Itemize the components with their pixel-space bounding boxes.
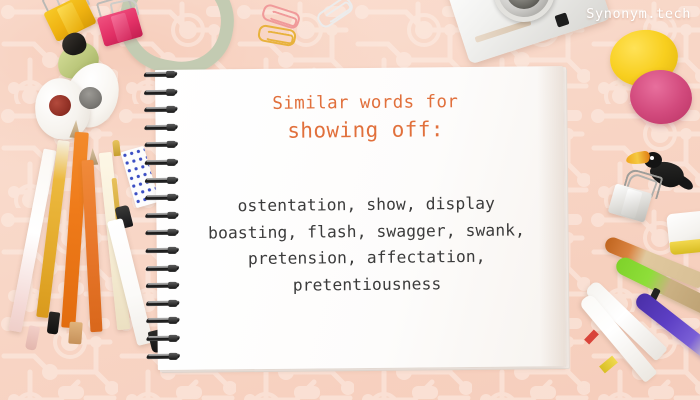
spiral-coil-highlight (146, 72, 169, 74)
spiral-coil-highlight (146, 125, 169, 127)
card-title: Similar words for showing off: (185, 89, 546, 146)
spiral-coil-cap (166, 88, 175, 95)
spiral-coil-highlight (148, 301, 171, 303)
spiral-coil-cap (166, 71, 175, 78)
spiral-coil-cap (169, 335, 178, 342)
synonym-line: pretension, affectation, (185, 243, 549, 273)
spiral-coil-cap (169, 352, 178, 359)
spiral-coil (145, 213, 178, 219)
spiral-coil (146, 248, 179, 254)
spiral-coil (146, 301, 179, 307)
spiral-coil-cap (168, 282, 177, 289)
notebook-page: Similar words for showing off: ostentati… (155, 66, 566, 370)
synonym-line: pretentiousness (185, 270, 549, 300)
spiral-coil-cap (167, 212, 176, 219)
spiral-coil (147, 336, 180, 342)
spiral-coil-cap (167, 124, 176, 131)
spiral-coil-highlight (148, 336, 171, 338)
spiral-coil (146, 283, 179, 289)
spiral-coil (145, 160, 178, 166)
brand-logo-text: Synonym.tech (586, 6, 691, 22)
spiral-coil-highlight (147, 248, 170, 250)
spiral-coil-cap (168, 317, 177, 324)
spiral-coil-cap (168, 264, 177, 271)
toucan-eye (650, 156, 654, 160)
spiral-coil-cap (168, 300, 177, 307)
spiral-coil (146, 318, 179, 324)
synonym-list: ostentation, show, display boasting, fla… (184, 190, 549, 299)
spiral-coil-highlight (148, 265, 171, 267)
spiral-coil (146, 265, 179, 271)
spiral-coil (147, 353, 180, 359)
orange-pencil-end (68, 322, 83, 345)
spiral-coil-highlight (146, 89, 169, 91)
synonym-line: boasting, flash, swagger, swank, (184, 217, 548, 247)
spiral-coil (145, 125, 178, 131)
spiral-coil-cap (167, 159, 176, 166)
spiral-coil (145, 195, 178, 201)
spiral-coil-highlight (147, 213, 170, 215)
spiral-coil-cap (167, 141, 176, 148)
spiral-coil (145, 177, 178, 183)
spiral-coil (144, 107, 177, 113)
card-title-headword: showing off: (185, 113, 545, 146)
spiral-coil-cap (167, 176, 176, 183)
spiral-binding (144, 68, 183, 374)
screenshot-root: Similar words for showing off: ostentati… (0, 0, 700, 400)
spiral-coil-cap (166, 106, 175, 113)
spiral-coil-highlight (147, 160, 170, 162)
card-content: Similar words for showing off: ostentati… (185, 66, 548, 369)
spiral-coil (144, 72, 177, 78)
spiral-coil (145, 142, 178, 148)
spiral-coil (144, 89, 177, 95)
synonym-line: ostentation, show, display (184, 190, 548, 220)
card-title-line-1: Similar words for (185, 89, 545, 116)
spiral-coil-cap (168, 229, 177, 236)
spiral-coil-highlight (148, 353, 171, 355)
spiral-coil-cap (167, 194, 176, 201)
spiral-coil-cap (168, 247, 177, 254)
spiral-coil-highlight (147, 177, 170, 179)
notebook: Similar words for showing off: ostentati… (155, 66, 570, 373)
spiral-coil (146, 230, 179, 236)
